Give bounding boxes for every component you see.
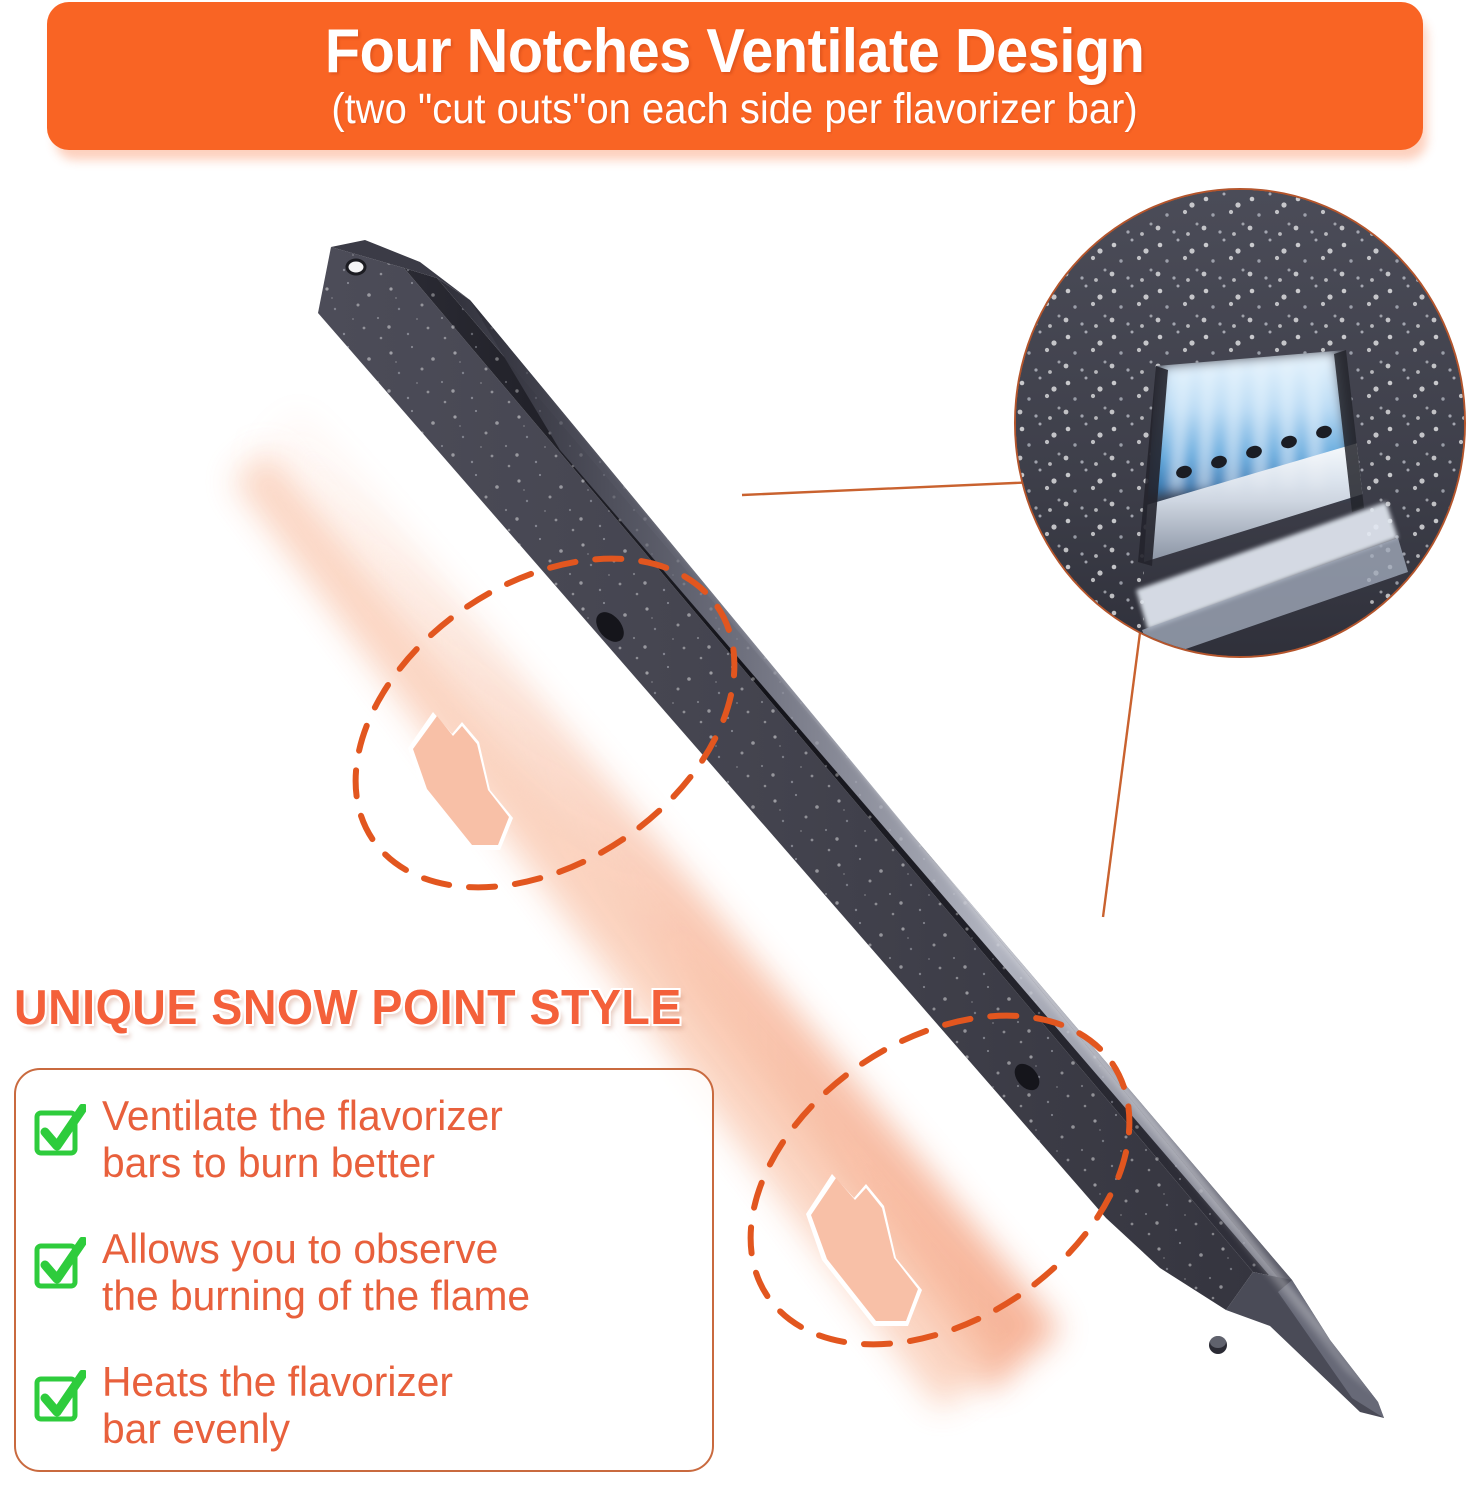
banner-subtitle: (two "cut outs"on each side per flavoriz…: [332, 87, 1138, 132]
plate-top-hole: [347, 260, 365, 274]
benefit-line-1: Heats the flavorizer: [102, 1358, 453, 1405]
inset-illustration: [1016, 190, 1466, 658]
header-banner: Four Notches Ventilate Design (two "cut …: [47, 2, 1423, 150]
benefit-text: Allows you to observe the burning of the…: [102, 1225, 530, 1319]
checkbox-check-icon: [34, 1237, 86, 1293]
benefit-text: Ventilate the flavorizer bars to burn be…: [102, 1092, 503, 1186]
benefit-line-2: bars to burn better: [102, 1139, 435, 1186]
benefit-item: Heats the flavorizer bar evenly: [34, 1358, 694, 1452]
benefit-line-1: Ventilate the flavorizer: [102, 1092, 503, 1139]
benefit-text: Heats the flavorizer bar evenly: [102, 1358, 453, 1452]
inset-detail-photo: [1014, 188, 1466, 658]
benefit-line-2: the burning of the flame: [102, 1272, 530, 1319]
benefit-line-1: Allows you to observe: [102, 1225, 498, 1272]
benefit-line-2: bar evenly: [102, 1405, 290, 1452]
benefits-box: Ventilate the flavorizer bars to burn be…: [14, 1068, 714, 1472]
benefit-item: Allows you to observe the burning of the…: [34, 1225, 694, 1319]
leader-line-lower: [1103, 625, 1141, 917]
banner-title: Four Notches Ventilate Design: [325, 20, 1145, 83]
benefit-item: Ventilate the flavorizer bars to burn be…: [34, 1092, 694, 1186]
checkbox-check-icon: [34, 1104, 86, 1160]
snow-point-heading: UNIQUE SNOW POINT STYLE: [14, 980, 682, 1036]
checkbox-check-icon: [34, 1370, 86, 1426]
